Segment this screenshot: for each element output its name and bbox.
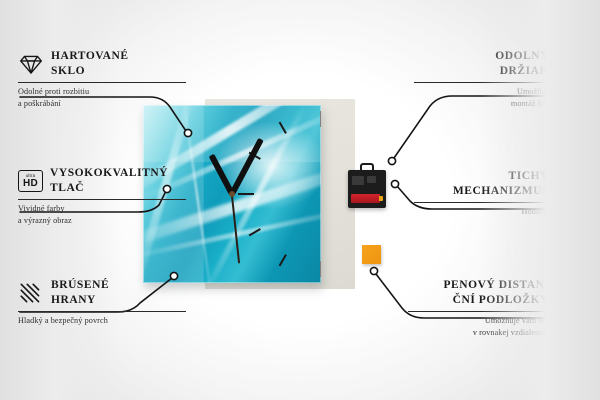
infographic-canvas: HARTOVANÉSKLO Odolné proti rozbitiua poš… bbox=[0, 0, 600, 400]
feature-durable-hanger: ODOLNÝDRŽIAK Umožňuje snadnoumontáž hodi… bbox=[414, 49, 582, 110]
feature-silent-mechanism: TICHÝMECHANIZMUS Hodinové ručičkybez zvu… bbox=[414, 169, 582, 230]
feature-foam-spacers: PENOVÝ DISTAN-ČNÍ PODLOŽKY Umožňuje vám … bbox=[408, 278, 582, 339]
press-down-pad-icon bbox=[556, 280, 582, 306]
mechanism-slot-right bbox=[367, 176, 376, 183]
feature-title: PENOVÝ DISTAN-ČNÍ PODLOŽKY bbox=[443, 278, 549, 308]
mechanism-hanger bbox=[360, 163, 374, 172]
feature-tempered-glass: HARTOVANÉSKLO Odolné proti rozbitiua poš… bbox=[18, 49, 186, 110]
mechanism-slot-left bbox=[352, 176, 364, 185]
bevelled-edge-icon bbox=[18, 280, 44, 306]
clock-mechanism bbox=[348, 170, 386, 208]
feature-polished-edges: BRÚSENÉHRANY Hladký a bezpečný povrch bbox=[18, 278, 186, 327]
feature-description: Hodinové ručičkybez zvuku bbox=[414, 203, 582, 229]
mechanism-battery bbox=[351, 194, 380, 203]
feature-title: TICHÝMECHANIZMUS bbox=[453, 169, 549, 199]
feature-description: Vividné farbya výrazný obraz bbox=[18, 200, 186, 226]
feature-high-quality-print: ultra HD VYSOKOKVALITNÝTLAČ Vividné farb… bbox=[18, 166, 186, 227]
feature-title: ODOLNÝDRŽIAK bbox=[495, 49, 549, 79]
feature-description: Odolné proti rozbitiua poškrábání bbox=[18, 83, 186, 109]
feature-title: HARTOVANÉSKLO bbox=[51, 49, 129, 79]
feature-description: Umožňuje vám držať hodinyv rovnakej vzdi… bbox=[408, 312, 582, 338]
feature-title: VYSOKOKVALITNÝTLAČ bbox=[50, 166, 168, 196]
feature-description: Umožňuje snadnoumontáž hodin na zeď bbox=[414, 83, 582, 109]
diamond-icon bbox=[18, 51, 44, 77]
ultra-hd-icon: ultra HD bbox=[18, 170, 43, 192]
picture-frame-icon bbox=[556, 51, 582, 77]
feature-description: Hladký a bezpečný povrch bbox=[18, 312, 186, 327]
foam-spacer-pad bbox=[362, 245, 381, 264]
feature-title: BRÚSENÉHRANY bbox=[51, 278, 109, 308]
gear-icon bbox=[556, 171, 582, 197]
